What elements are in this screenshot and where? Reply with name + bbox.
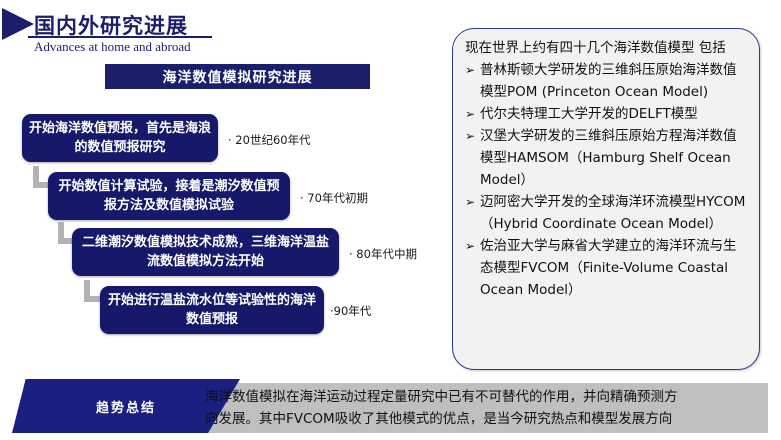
flow-step-1[interactable]: 开始海洋数值预报，首先是海浪的数值预报研究 [22,114,218,162]
flow-era-label-1: · 20世纪60年代 [228,132,311,148]
list-item: ➢ 佐治亚大学与麻省大学建立的海洋环流与生态模型FVCOM（Finite-Vol… [465,235,749,301]
page-subtitle: Advances at home and abroad [34,39,191,55]
bullet-arrow-icon: ➢ [465,103,475,125]
flow-step-3[interactable]: 二维潮汐数值模拟技术成熟，三维海洋温盐流数值模拟方法开始 [72,228,339,276]
list-item-label: 普林斯顿大学研发的三维斜压原始海洋数值模型POM (Princeton Ocea… [480,62,737,100]
list-item-label: 迈阿密大学开发的全球海洋环流模型HYCOM（Hybrid Coordinate … [480,194,745,232]
list-item: ➢ 迈阿密大学开发的全球海洋环流模型HYCOM（Hybrid Coordinat… [465,191,749,235]
list-item: ➢ 代尔夫特理工大学开发的DELFT模型 [465,103,749,125]
flow-era-label-4: ·90年代 [330,303,371,319]
list-item-label: 代尔夫特理工大学开发的DELFT模型 [480,106,698,122]
bullet-arrow-icon: ➢ [465,59,475,81]
section-banner: 海洋数值模拟研究进展 [105,64,370,89]
flow-era-label-3: · 80年代中期 [349,246,417,262]
flow-step-4[interactable]: 开始进行温盐流水位等试验性的海洋数值预报 [100,286,324,334]
summary-text-line-1: 海洋数值模拟在海洋运动过程定量研究中已有不可替代的作用，并向精确预测方 [205,386,770,408]
section-banner-label: 海洋数值模拟研究进展 [105,64,370,89]
slide-canvas: 国内外研究进展 Advances at home and abroad 海洋数值… [0,0,781,440]
bullet-arrow-icon: ➢ [465,125,475,147]
flow-era-label-2: · 70年代初期 [300,190,368,206]
models-list: ➢ 普林斯顿大学研发的三维斜压原始海洋数值模型POM (Princeton Oc… [465,59,749,301]
flow-step-2[interactable]: 开始数值计算试验，接着是潮汐数值预报方法及数值模拟试验 [48,172,290,220]
models-panel: 现在世界上约有四十几个海洋数值模型 包括 ➢ 普林斯顿大学研发的三维斜压原始海洋… [452,28,760,370]
list-item: ➢ 普林斯顿大学研发的三维斜压原始海洋数值模型POM (Princeton Oc… [465,59,749,103]
summary-text: 海洋数值模拟在海洋运动过程定量研究中已有不可替代的作用，并向精确预测方 向发展。… [205,386,770,430]
list-item-label: 汉堡大学研发的三维斜压原始方程海洋数值模型HAMSOM（Hamburg Shel… [480,128,737,188]
header-divider [28,36,212,38]
list-item: ➢ 汉堡大学研发的三维斜压原始方程海洋数值模型HAMSOM（Hamburg Sh… [465,125,749,191]
list-item-label: 佐治亚大学与麻省大学建立的海洋环流与生态模型FVCOM（Finite-Volum… [480,238,737,298]
bullet-arrow-icon: ➢ [465,191,475,213]
summary-text-line-2: 向发展。其中FVCOM吸收了其他模式的优点，是当今研究热点和模型发展方向 [205,408,770,430]
bullet-arrow-icon: ➢ [465,235,475,257]
models-panel-lead: 现在世界上约有四十几个海洋数值模型 包括 [465,37,749,59]
